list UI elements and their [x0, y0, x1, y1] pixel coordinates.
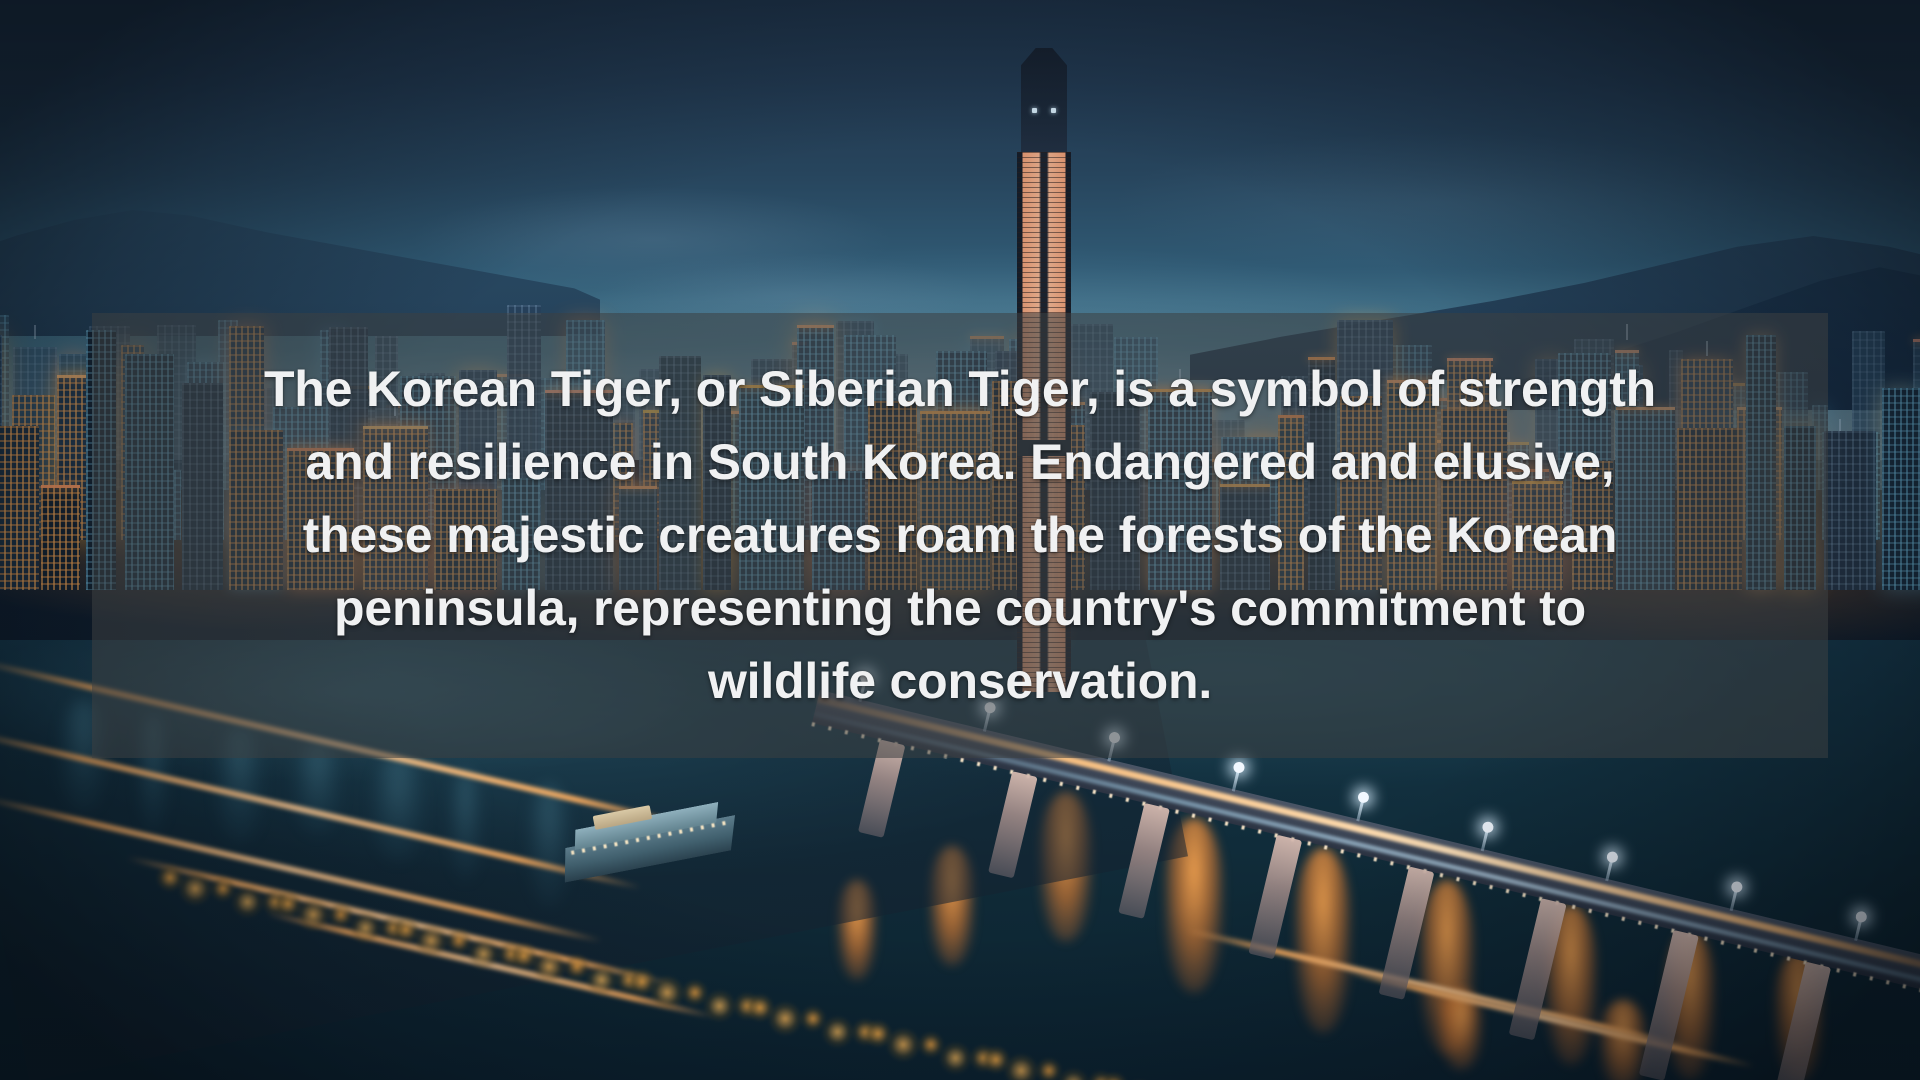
- building: [0, 426, 39, 590]
- bridge-pier: [988, 771, 1038, 878]
- caption-line: peninsula, representing the country's co…: [334, 580, 1586, 636]
- building: [41, 485, 80, 590]
- caption-line: wildlife conservation.: [708, 653, 1212, 709]
- bridge-pier: [1379, 866, 1435, 999]
- bridge-pier: [1639, 930, 1699, 1080]
- screenshot-canvas: The Korean Tiger, or Siberian Tiger, is …: [0, 0, 1920, 1080]
- bridge-pier: [1769, 962, 1831, 1080]
- bridge-pier: [1118, 803, 1170, 919]
- tower-crown: [1021, 48, 1067, 156]
- rooftop-light: [41, 485, 80, 488]
- caption-line: The Korean Tiger, or Siberian Tiger, is …: [264, 361, 1656, 417]
- building: [1882, 388, 1920, 590]
- bridge-pier: [1248, 835, 1302, 960]
- caption-line: these majestic creatures roam the forest…: [303, 507, 1617, 563]
- caption-overlay-box: The Korean Tiger, or Siberian Tiger, is …: [92, 313, 1828, 758]
- building: [1824, 431, 1876, 590]
- caption-text: The Korean Tiger, or Siberian Tiger, is …: [135, 353, 1785, 718]
- caption-line: and resilience in South Korea. Endangere…: [306, 434, 1615, 490]
- bridge-pier: [1509, 898, 1567, 1040]
